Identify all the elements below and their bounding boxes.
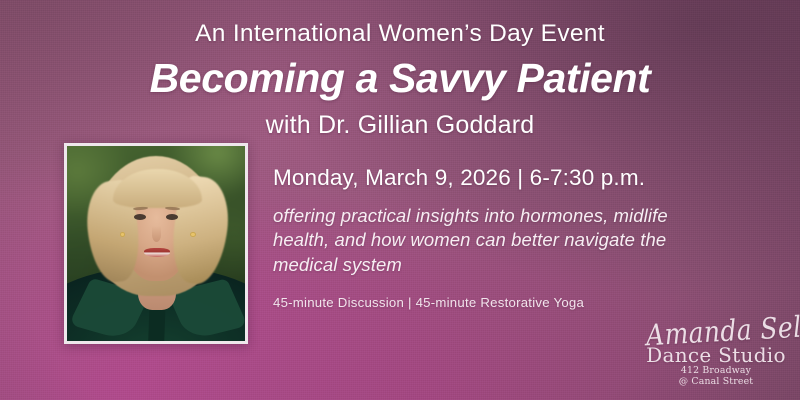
- speaker-subtitle: with Dr. Gillian Goddard: [0, 113, 800, 138]
- event-poster: An International Women’s Day Event Becom…: [0, 0, 800, 400]
- event-kicker: An International Women’s Day Event: [0, 22, 800, 47]
- event-datetime: Monday, March 9, 2026 | 6-7:30 p.m.: [273, 166, 693, 190]
- headline-block: An International Women’s Day Event Becom…: [0, 22, 800, 138]
- portrait-nose: [152, 226, 162, 242]
- studio-logo-script-name: Amanda Selwyn: [645, 313, 786, 350]
- event-schedule-note: 45-minute Discussion | 45-minute Restora…: [273, 295, 693, 310]
- portrait-earring-left: [120, 232, 126, 237]
- speaker-portrait-image: [67, 146, 245, 341]
- page-title: Becoming a Savvy Patient: [0, 58, 800, 99]
- studio-logo: Amanda Selwyn Dance Studio 412 Broadway …: [646, 319, 786, 388]
- speaker-portrait-frame: [64, 143, 248, 344]
- event-description: offering practical insights into hormone…: [273, 204, 685, 278]
- portrait-earring-right: [190, 232, 196, 237]
- event-details-block: Monday, March 9, 2026 | 6-7:30 p.m. offe…: [273, 166, 693, 310]
- studio-logo-address-line2: @ Canal Street: [646, 377, 786, 388]
